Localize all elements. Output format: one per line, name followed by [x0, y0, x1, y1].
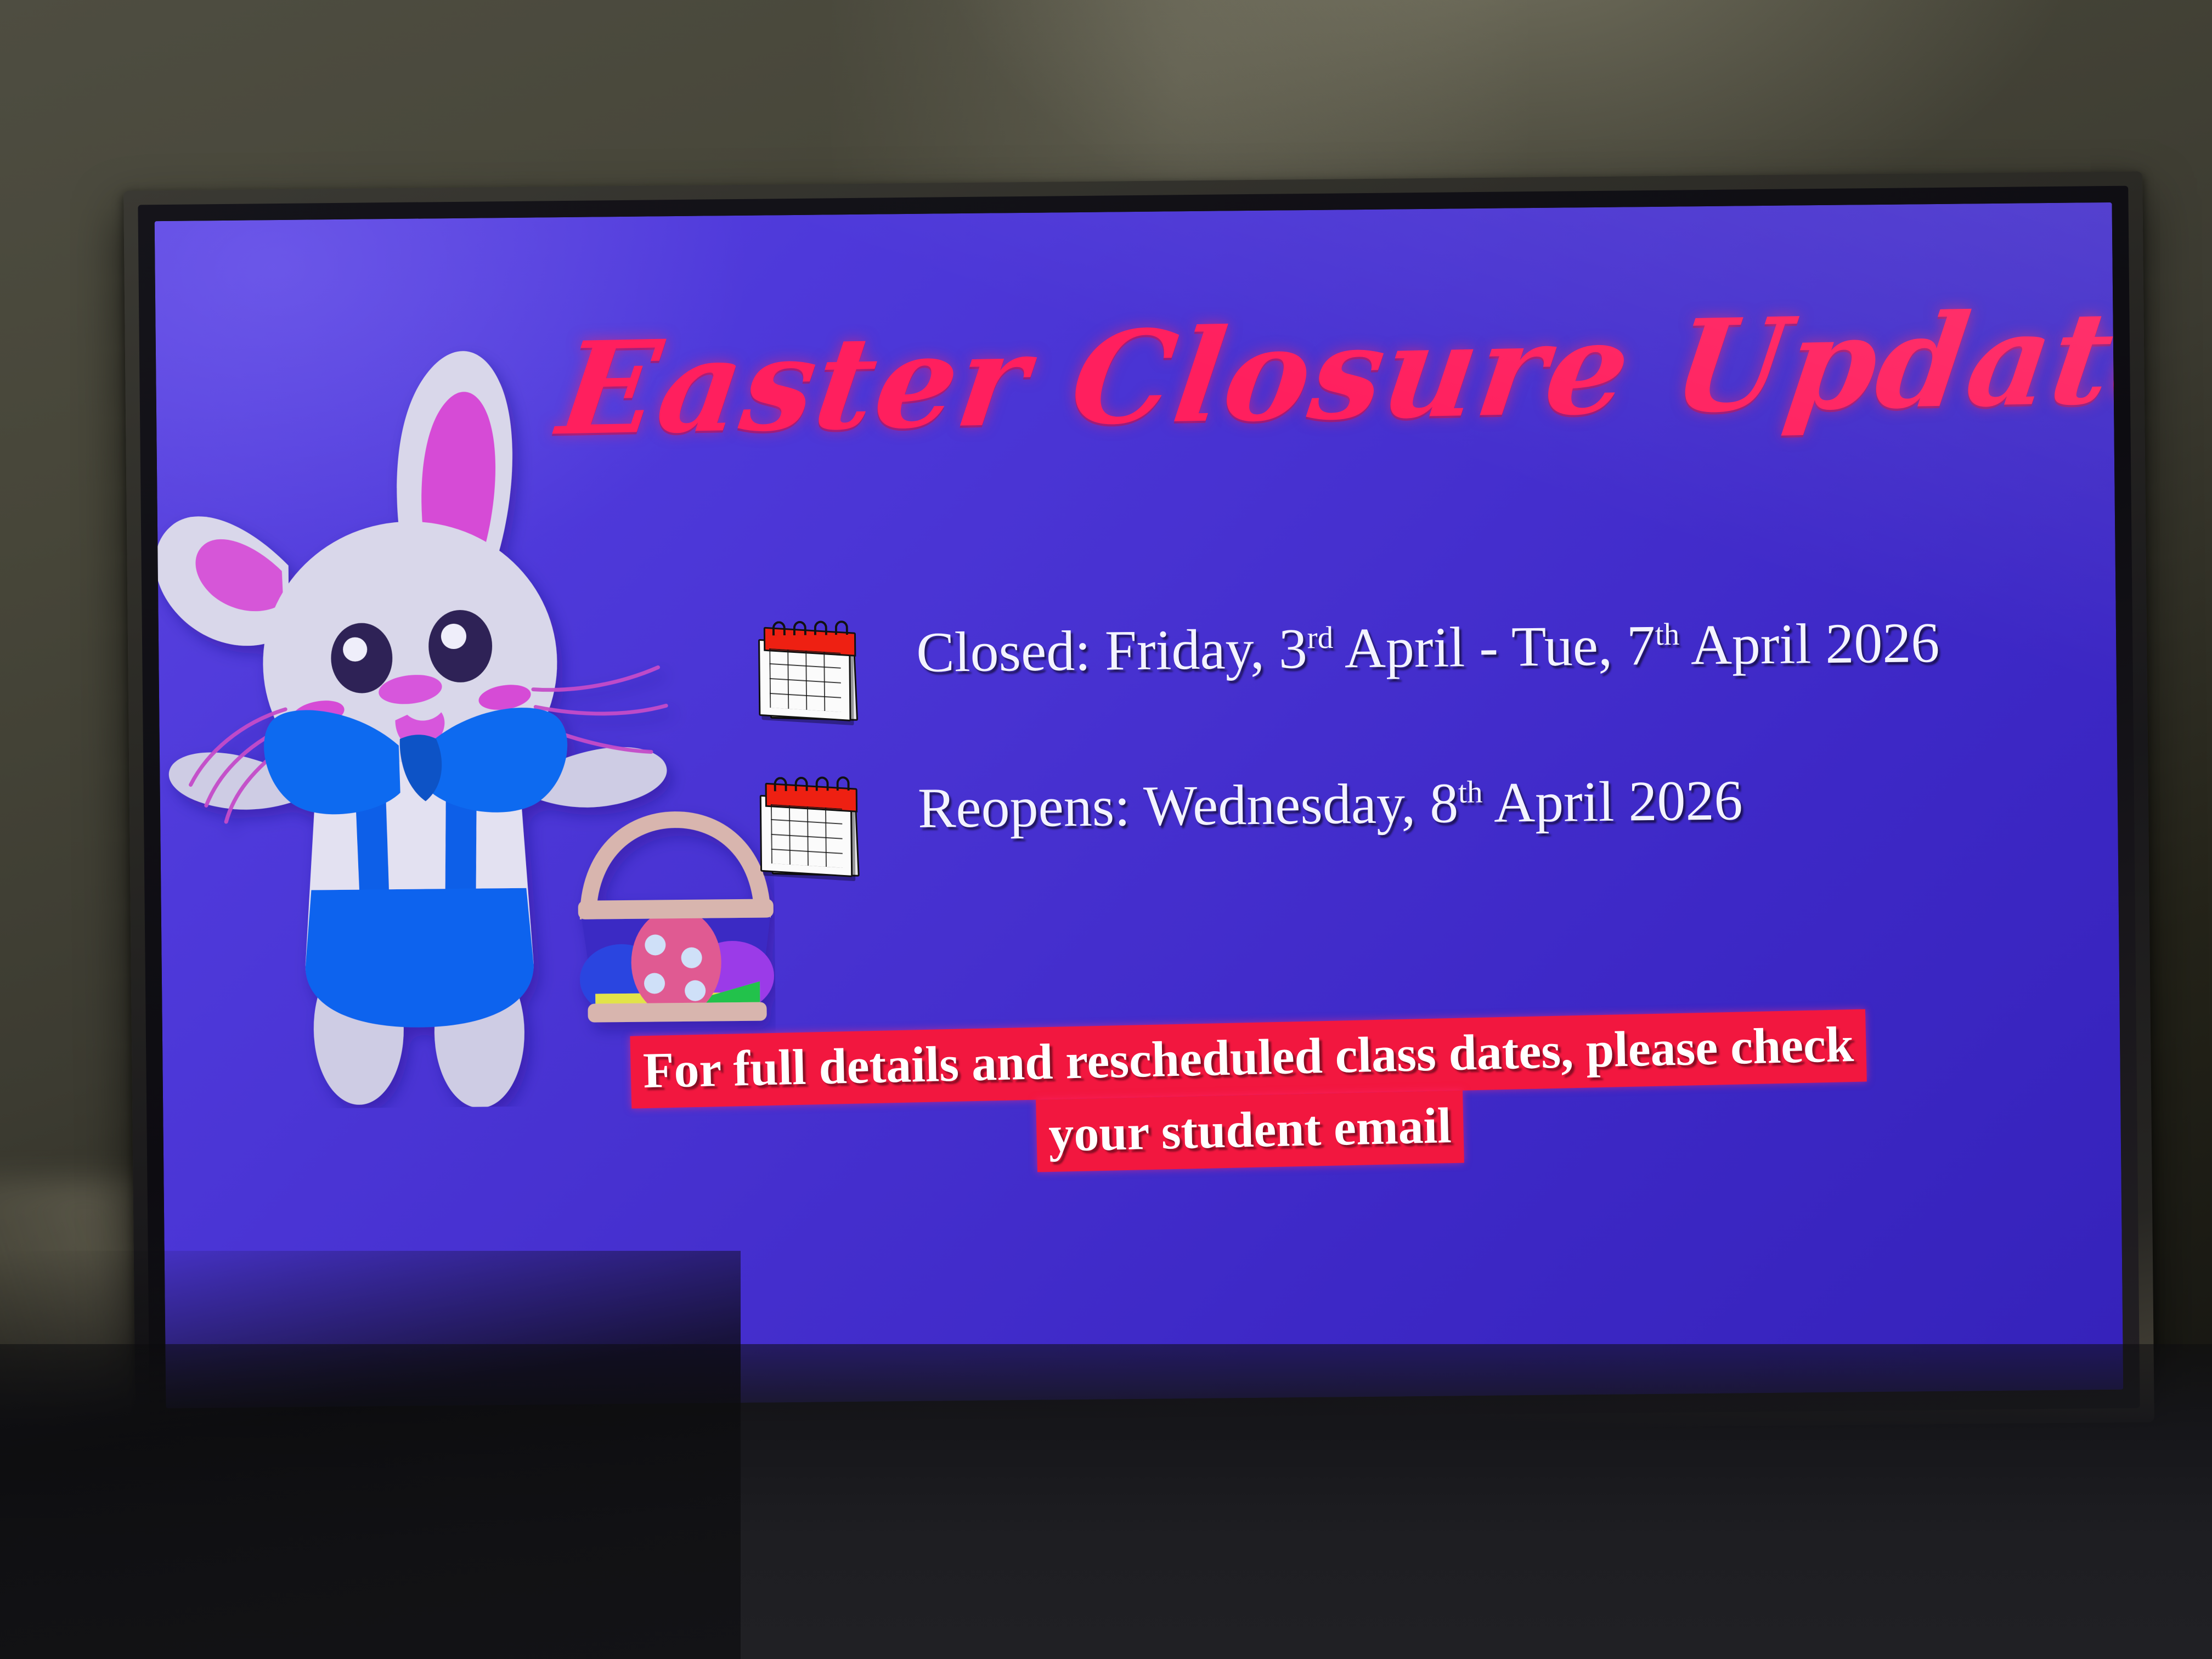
closure-info-list: Closed: Friday, 3rd April - Tue, 7th Apr…	[754, 609, 2040, 933]
page-title: Easter Closure Update	[552, 302, 1757, 453]
calendar-icon	[754, 626, 865, 725]
calendar-icon	[755, 782, 866, 881]
list-item: Closed: Friday, 3rd April - Tue, 7th Apr…	[754, 609, 2039, 724]
banner-line-2: your student email	[1036, 1091, 1464, 1172]
room-scene: Easter Closure Update Clos	[0, 0, 2212, 1659]
closure-dates-text: Closed: Friday, 3rd April - Tue, 7th Apr…	[916, 609, 2038, 686]
tv-screen: Easter Closure Update Clos	[155, 202, 2124, 1408]
reopen-date-text: Reopens: Wednesday, 8th April 2026	[917, 765, 2039, 842]
banner-line-1: For full details and rescheduled class d…	[630, 1009, 1867, 1109]
wall-shadow-left	[0, 1251, 741, 1659]
list-item: Reopens: Wednesday, 8th April 2026	[755, 765, 2040, 880]
